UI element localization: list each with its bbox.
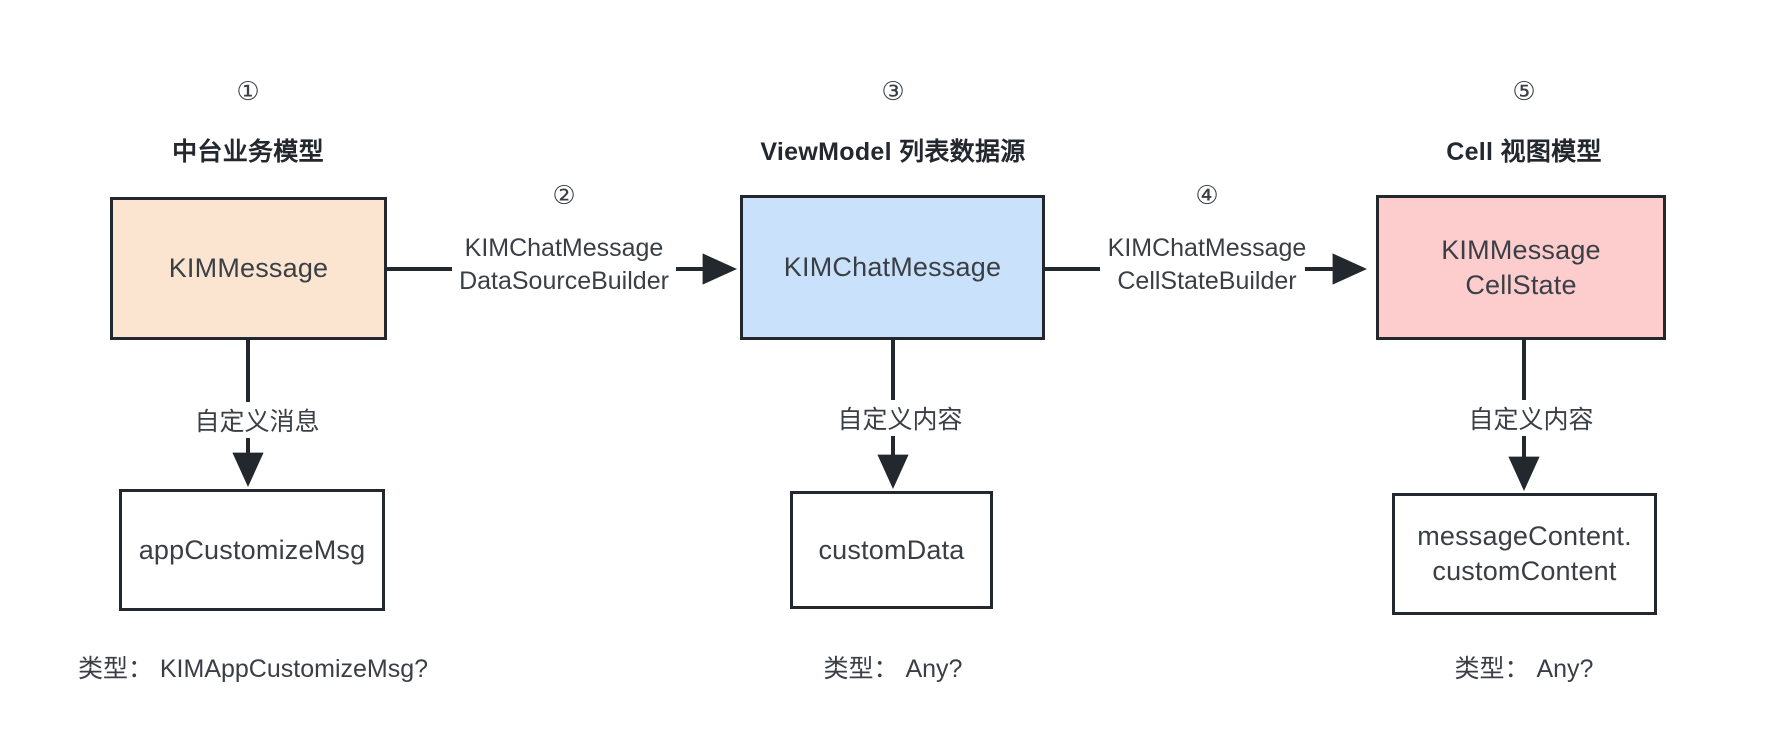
vertical-edge-label-custom-content-right: 自定义内容	[1434, 400, 1628, 436]
step-number-3: ③	[833, 76, 953, 107]
step-number-5: ⑤	[1464, 76, 1584, 107]
vertical-edge-label-custom-message: 自定义消息	[160, 402, 354, 438]
column-title-business-model: 中台业务模型	[108, 132, 388, 168]
edge-label-datasource-builder: KIMChatMessage DataSourceBuilder	[444, 232, 684, 298]
vertical-edge-label-custom-content-center: 自定义内容	[803, 400, 997, 436]
step-number-4: ④	[1147, 180, 1267, 211]
node-kim-message-cell-state[interactable]: KIMMessage CellState	[1376, 195, 1666, 340]
step-number-2: ②	[504, 180, 624, 211]
node-kim-chat-message[interactable]: KIMChatMessage	[740, 195, 1045, 340]
node-message-content-custom-content[interactable]: messageContent. customContent	[1392, 493, 1657, 615]
column-title-viewmodel-datasource: ViewModel 列表数据源	[723, 132, 1063, 168]
node-custom-data[interactable]: customData	[790, 491, 993, 609]
column-title-cell-viewmodel: Cell 视图模型	[1394, 132, 1654, 168]
type-caption-custom-data: 类型： Any?	[728, 649, 1058, 685]
node-kim-message[interactable]: KIMMessage	[110, 197, 387, 340]
diagram-canvas: ① 中台业务模型 KIMMessage 自定义消息 appCustomizeMs…	[0, 0, 1772, 751]
step-number-1: ①	[188, 76, 308, 107]
edge-label-cellstate-builder: KIMChatMessage CellStateBuilder	[1091, 232, 1323, 298]
node-app-customize-msg[interactable]: appCustomizeMsg	[119, 489, 385, 611]
connector-layer	[0, 0, 1772, 751]
type-caption-app-customize-msg: 类型： KIMAppCustomizeMsg?	[38, 649, 468, 685]
type-caption-message-content: 类型： Any?	[1359, 649, 1689, 685]
